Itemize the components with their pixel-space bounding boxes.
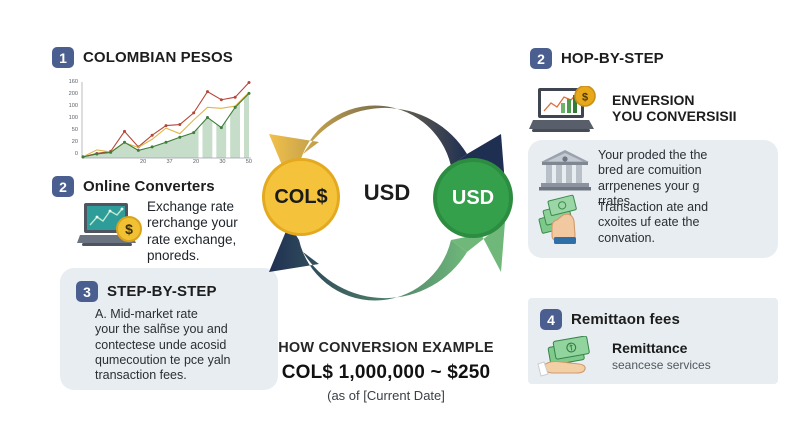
remittance-sub: seancese services xyxy=(612,358,777,372)
y-tick: 200 xyxy=(69,92,78,98)
step-badge-2-left: 2 xyxy=(52,176,74,197)
colombian-pesos-chart: 160 200 100 100 50 20 0 20 37 20 30 50 xyxy=(52,80,252,175)
right-section-4-text: Remittance seancese services xyxy=(612,340,777,372)
y-tick: 100 xyxy=(69,116,78,122)
chart-point xyxy=(248,81,251,84)
chart-point xyxy=(151,134,154,137)
center-usd-label: USD xyxy=(347,180,427,206)
y-tick: 100 xyxy=(69,104,78,110)
right-section-2-lead: ENVERSION YOU CONVERSISII xyxy=(612,92,782,124)
step-badge-2-right: 2 xyxy=(530,48,552,69)
caption-amount: COL$ 1,000,000 ~ $250 xyxy=(255,362,517,384)
chart-plot-area xyxy=(80,80,252,162)
right-section-2-header: 2 HOP-BY-STEP xyxy=(530,48,664,69)
right-section-2-title: HOP-BY-STEP xyxy=(561,50,664,67)
chart-gap-bar xyxy=(199,82,203,158)
chart-point xyxy=(82,155,85,158)
chart-gap-bar xyxy=(240,82,244,158)
laptop-coin-icon: $ xyxy=(76,199,146,256)
caption-heading: HOW CONVERSION EXAMPLE xyxy=(255,340,517,356)
left-section-2-body: Exchange rate rerchange your rate exchan… xyxy=(147,199,267,265)
left-section-3-title: STEP-BY-STEP xyxy=(107,283,217,300)
left-section-1-title: COLOMBIAN PESOS xyxy=(83,49,233,66)
currency-conversion-cycle: COL$ USD USD xyxy=(255,58,515,348)
x-tick: 20 xyxy=(193,160,199,166)
y-tick: 0 xyxy=(75,152,78,158)
chart-point xyxy=(151,145,154,148)
chart-point xyxy=(95,152,98,155)
chart-point xyxy=(234,96,237,99)
chart-point xyxy=(165,141,168,144)
cash-in-hand-icon xyxy=(535,336,609,387)
chart-point xyxy=(206,90,209,93)
bank-icon xyxy=(538,148,592,197)
caption-date: (as of [Current Date] xyxy=(255,388,517,403)
cash-hand-icon xyxy=(533,193,595,254)
conversion-example-caption: HOW CONVERSION EXAMPLE COL$ 1,000,000 ~ … xyxy=(255,340,517,403)
cop-coin: COL$ xyxy=(262,158,340,236)
y-tick: 160 xyxy=(69,80,78,86)
laptop-chart-coin-icon: $ xyxy=(528,86,606,139)
chart-point xyxy=(178,136,181,139)
chart-gap-bar xyxy=(212,82,216,158)
chart-point xyxy=(137,149,140,152)
usd-coin: USD xyxy=(433,158,513,238)
x-tick: 50 xyxy=(246,160,252,166)
svg-text:$: $ xyxy=(125,221,133,237)
chart-point xyxy=(178,123,181,126)
step-badge-1: 1 xyxy=(52,47,74,68)
chart-point xyxy=(123,141,126,144)
chart-point xyxy=(220,126,223,129)
right-panel-text-bottom: Transaction ate and cxoites uf eate the … xyxy=(598,200,778,246)
left-section-2-title: Online Converters xyxy=(83,178,215,195)
step-badge-3: 3 xyxy=(76,281,98,302)
svg-text:$: $ xyxy=(582,92,588,104)
x-tick: 30 xyxy=(219,160,225,166)
chart-point xyxy=(165,124,168,127)
chart-x-axis: 20 37 20 30 50 xyxy=(140,160,252,166)
x-tick: 20 xyxy=(140,160,146,166)
step-badge-4: 4 xyxy=(540,309,562,330)
x-tick: 37 xyxy=(166,160,172,166)
chart-point xyxy=(109,151,112,154)
remittance-lead: Remittance xyxy=(612,340,777,356)
chart-point xyxy=(192,131,195,134)
chart-point xyxy=(192,111,195,114)
y-tick: 20 xyxy=(72,140,78,146)
chart-point xyxy=(220,98,223,101)
chart-y-axis: 160 200 100 100 50 20 0 xyxy=(52,80,78,158)
chart-point xyxy=(234,106,237,109)
chart-point xyxy=(248,92,251,95)
chart-point xyxy=(123,130,126,133)
left-section-3-body: A. Mid-market rate your the salñse you a… xyxy=(95,307,270,383)
y-tick: 50 xyxy=(72,128,78,134)
left-section-2-header: 2 Online Converters xyxy=(52,176,215,197)
right-section-4-header: 4 Remittaon fees xyxy=(540,309,680,330)
left-section-3-header: 3 STEP-BY-STEP xyxy=(76,281,217,302)
right-section-4-title: Remittaon fees xyxy=(571,311,680,328)
chart-point xyxy=(206,116,209,119)
infographic-root: 1 COLOMBIAN PESOS 160 200 100 100 50 20 … xyxy=(0,0,800,445)
left-section-1-header: 1 COLOMBIAN PESOS xyxy=(52,47,233,68)
